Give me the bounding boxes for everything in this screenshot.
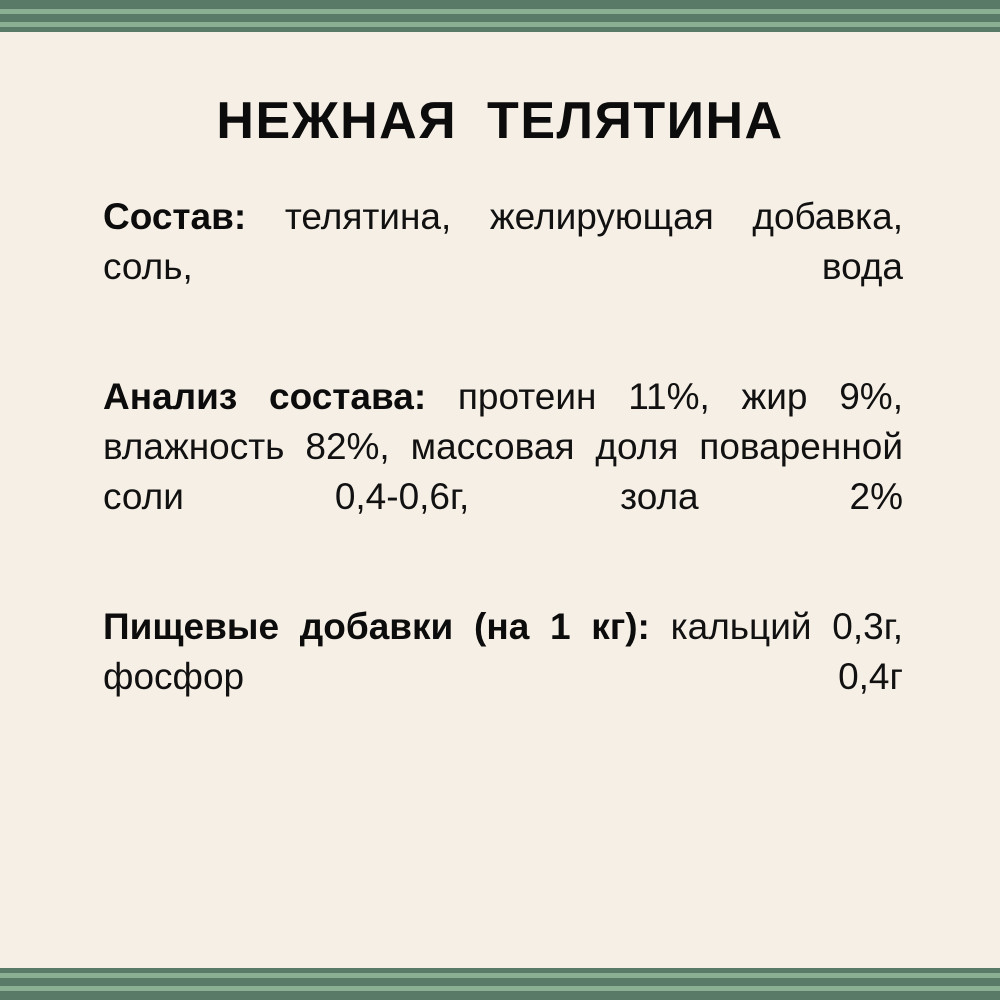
spec-label-analysis: Анализ состава: bbox=[103, 376, 426, 417]
stripe-dark-1 bbox=[0, 0, 1000, 9]
page-title: НЕЖНАЯ ТЕЛЯТИНА bbox=[0, 32, 1000, 148]
stripe-dark-2 bbox=[0, 14, 1000, 22]
top-border-stripes bbox=[0, 0, 1000, 32]
spec-label-additives: Пищевые добавки (на 1 кг): bbox=[103, 606, 650, 647]
spec-label-composition: Состав: bbox=[103, 196, 246, 237]
spec-item-analysis: Анализ состава: протеин 11%, жир 9%, вла… bbox=[103, 372, 903, 572]
stripe-dark-2 bbox=[0, 978, 1000, 986]
label-content: НЕЖНАЯ ТЕЛЯТИНА Состав: телятина, желиру… bbox=[0, 32, 1000, 968]
spec-item-composition: Состав: телятина, желирующая добавка, со… bbox=[103, 192, 903, 342]
spec-item-additives: Пищевые добавки (на 1 кг): кальций 0,3г,… bbox=[103, 602, 903, 752]
bottom-border-stripes bbox=[0, 968, 1000, 1000]
product-label-card: НЕЖНАЯ ТЕЛЯТИНА Состав: телятина, желиру… bbox=[0, 0, 1000, 1000]
specification-list: Состав: телятина, желирующая добавка, со… bbox=[0, 148, 1000, 752]
stripe-dark-1 bbox=[0, 991, 1000, 1000]
